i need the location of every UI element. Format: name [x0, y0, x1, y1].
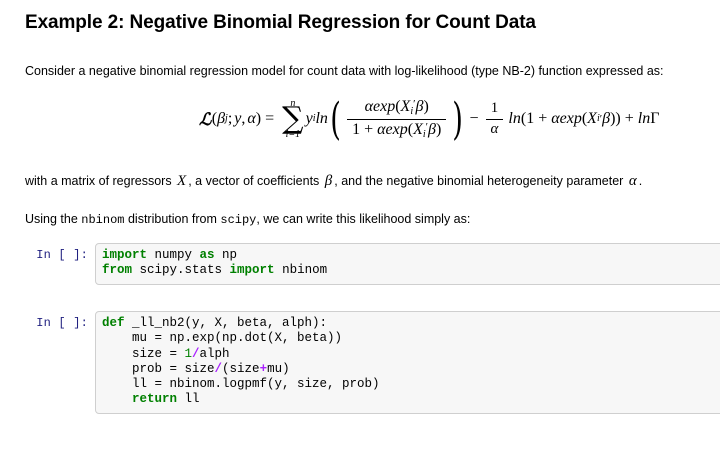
math-script-L: ℒ [199, 111, 212, 128]
math-fraction-numerator: αexp(Xi′β) [360, 98, 434, 119]
math-den-X: X [413, 121, 423, 138]
math-tail-exp: exp [560, 111, 582, 127]
math-sum-lower-limit: i=1 [286, 130, 301, 140]
using-text-part2: distribution from [125, 212, 221, 226]
math-tail-plus: + [534, 111, 551, 127]
math-y: y [234, 111, 241, 127]
intro-text: Consider a negative binomial regression … [25, 64, 664, 78]
math-one-over-alpha: 1 α [486, 100, 504, 138]
math-num-exp: exp [373, 98, 395, 115]
math-alpha: α [247, 111, 255, 127]
code-input-area[interactable]: import numpy as np from scipy.stats impo… [95, 243, 720, 285]
math-den-one: 1 [352, 121, 360, 138]
math-minus: − [466, 111, 483, 127]
math-tail-plus2: + [621, 111, 638, 127]
math-num-close: ) [423, 98, 428, 115]
code-cell[interactable]: In [ ]: def _ll_nb2(y, X, beta, alph): m… [0, 311, 720, 414]
using-text-part3: , we can write this likelihood simply as… [256, 212, 470, 226]
regressors-text-part3: , and the negative binomial heterogeneit… [334, 174, 627, 188]
math-tail-alpha: α [551, 111, 559, 127]
cell-prompt[interactable]: In [ ]: [0, 311, 95, 330]
math-num-alpha: α [365, 98, 373, 115]
math-fraction: αexp(Xi′β) 1+αexp(Xi′β) [347, 98, 446, 141]
math-equals: = [261, 111, 278, 127]
code-source[interactable]: def _ll_nb2(y, X, beta, alph): mu = np.e… [102, 316, 720, 408]
math-den-plus: + [360, 121, 377, 138]
math-summation: n ∑ i=1 [282, 99, 303, 141]
math-sum-sign: ∑ [282, 107, 303, 132]
math-ln-2: ln [506, 111, 520, 127]
math-tail-beta: β [602, 111, 610, 127]
math-den-exp: exp [386, 121, 408, 138]
inline-math-beta: β [323, 173, 334, 189]
intro-paragraph: Consider a negative binomial regression … [25, 63, 664, 79]
regressors-text-part1: with a matrix of regressors [25, 174, 175, 188]
using-paragraph: Using the nbinom distribution from scipy… [25, 211, 470, 229]
math-den-beta: β [428, 121, 436, 138]
math-tail-X: X [587, 111, 597, 127]
inline-code-scipy: scipy [220, 213, 256, 227]
regressors-text-part4: . [639, 174, 642, 188]
using-text-part1: Using the [25, 212, 81, 226]
math-oa-num: 1 [486, 100, 504, 119]
math-den-close: ) [436, 121, 441, 138]
regressors-paragraph: with a matrix of regressors X, a vector … [25, 172, 642, 192]
inline-math-alpha: α [627, 173, 639, 189]
math-ln-3: ln [638, 111, 650, 127]
math-fraction-denominator: 1+αexp(Xi′β) [347, 120, 446, 141]
math-y-base: y [306, 111, 313, 127]
math-ln-1: ln [315, 111, 327, 127]
math-den-alpha: α [377, 121, 385, 138]
likelihood-equation: ℒ ( β j ; y , α ) = n ∑ i=1 y i ln ( αex… [199, 98, 659, 141]
inline-code-nbinom: nbinom [81, 213, 124, 227]
page-title: Example 2: Negative Binomial Regression … [25, 12, 536, 34]
code-input-area[interactable]: def _ll_nb2(y, X, beta, alph): mu = np.e… [95, 311, 720, 414]
math-num-X: X [401, 98, 411, 115]
regressors-text-part2: , a vector of coefficients [188, 174, 323, 188]
math-oa-den: α [486, 120, 504, 139]
math-gamma: Γ [650, 111, 659, 127]
inline-math-X: X [175, 173, 188, 189]
math-beta: β [217, 111, 225, 127]
code-source[interactable]: import numpy as np from scipy.stats impo… [102, 248, 720, 279]
cell-prompt[interactable]: In [ ]: [0, 243, 95, 262]
code-cell[interactable]: In [ ]: import numpy as np from scipy.st… [0, 243, 720, 285]
math-tail-one: 1 [526, 111, 534, 127]
